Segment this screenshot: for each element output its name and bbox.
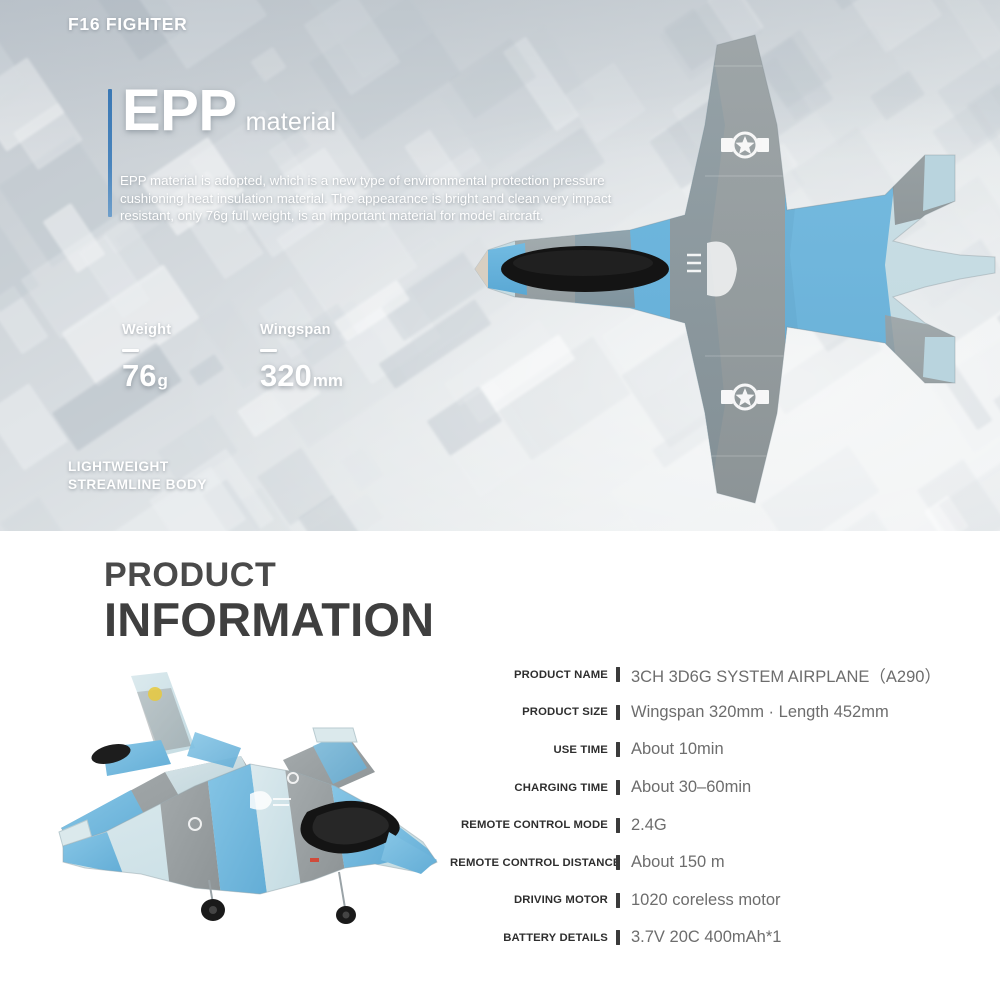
title-line-1: PRODUCT: [104, 557, 434, 594]
stat-wingspan: Wingspan 320mm: [260, 322, 398, 391]
spec-value: 2.4G: [631, 816, 667, 835]
hero-heading: EPP material: [122, 82, 336, 140]
heading-sub: material: [246, 108, 337, 137]
stat-divider: [122, 349, 139, 352]
spec-value: 3.7V 20C 400mAh*1: [631, 928, 781, 947]
aircraft-three-quarter-view-image: [45, 636, 440, 936]
stat-value: 320mm: [260, 360, 398, 391]
spec-label: BATTERY DETAILS: [450, 932, 608, 944]
tagline-line-2: STREAMLINE BODY: [68, 476, 207, 494]
stat-unit: mm: [313, 371, 343, 390]
spec-label: PRODUCT SIZE: [450, 706, 608, 718]
spec-row: PRODUCT SIZE Wingspan 320mm · Length 452…: [450, 694, 970, 732]
spec-value: 1020 coreless motor: [631, 891, 781, 910]
spec-separator-bar: [616, 705, 620, 720]
spec-row: REMOTE CONTROL MODE 2.4G: [450, 806, 970, 844]
product-information-section: PRODUCT INFORMATION: [0, 531, 1000, 1000]
section-title: PRODUCT INFORMATION: [104, 557, 434, 645]
stat-label: Wingspan: [260, 322, 398, 338]
stat-number: 320: [260, 358, 312, 393]
heading-main: EPP: [122, 82, 237, 140]
spec-separator-bar: [616, 855, 620, 870]
hero-description: EPP material is adopted, which is a new …: [120, 172, 630, 225]
specifications-table: PRODUCT NAME 3CH 3D6G SYSTEM AIRPLANE（A2…: [450, 656, 970, 957]
spec-label: PRODUCT NAME: [450, 669, 608, 681]
stat-unit: g: [157, 371, 167, 390]
spec-separator-bar: [616, 780, 620, 795]
stat-divider: [260, 349, 277, 352]
stat-value: 76g: [122, 360, 260, 391]
spec-separator-bar: [616, 818, 620, 833]
spec-row: USE TIME About 10min: [450, 731, 970, 769]
spec-separator-bar: [616, 930, 620, 945]
spec-value: About 150 m: [631, 853, 725, 872]
spec-row: CHARGING TIME About 30–60min: [450, 769, 970, 807]
spec-label: REMOTE CONTROL DISTANCE: [450, 857, 608, 869]
spec-value: About 30–60min: [631, 778, 751, 797]
spec-value: Wingspan 320mm · Length 452mm: [631, 703, 889, 722]
stat-label: Weight: [122, 322, 260, 338]
spec-value: 3CH 3D6G SYSTEM AIRPLANE（A290）: [631, 663, 941, 687]
spec-label: CHARGING TIME: [450, 782, 608, 794]
hero-stats: Weight 76g Wingspan 320mm: [122, 322, 398, 391]
spec-value: About 10min: [631, 740, 724, 759]
heading-accent-bar: [108, 89, 112, 217]
brand-label: F16 FIGHTER: [68, 14, 188, 35]
spec-separator-bar: [616, 893, 620, 908]
spec-row: PRODUCT NAME 3CH 3D6G SYSTEM AIRPLANE（A2…: [450, 656, 970, 694]
tagline-line-1: LIGHTWEIGHT: [68, 458, 207, 476]
spec-separator-bar: [616, 742, 620, 757]
product-infographic: F16 FIGHTER EPP material EPP material is…: [0, 0, 1000, 1000]
aircraft-top-view-image: [455, 5, 1000, 525]
spec-row: REMOTE CONTROL DISTANCE About 150 m: [450, 844, 970, 882]
hero-tagline: LIGHTWEIGHT STREAMLINE BODY: [68, 458, 207, 494]
hero-section: F16 FIGHTER EPP material EPP material is…: [0, 0, 1000, 531]
stat-weight: Weight 76g: [122, 322, 260, 391]
stat-number: 76: [122, 358, 156, 393]
spec-label: REMOTE CONTROL MODE: [450, 819, 608, 831]
spec-label: USE TIME: [450, 744, 608, 756]
spec-separator-bar: [616, 667, 620, 682]
spec-row: BATTERY DETAILS 3.7V 20C 400mAh*1: [450, 919, 970, 957]
spec-label: DRIVING MOTOR: [450, 894, 608, 906]
spec-row: DRIVING MOTOR 1020 coreless motor: [450, 882, 970, 920]
